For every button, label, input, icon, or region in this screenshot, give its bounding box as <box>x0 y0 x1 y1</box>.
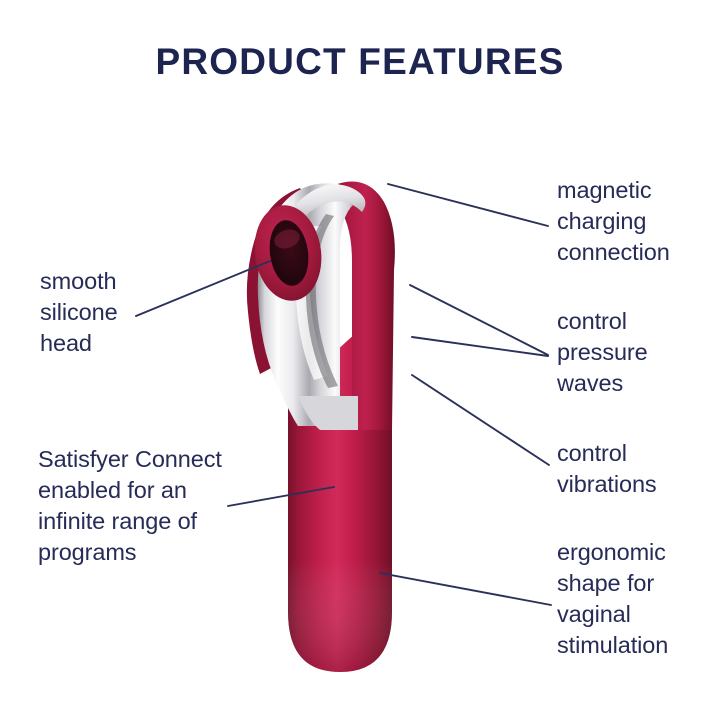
leader-line-smooth-silicone <box>136 261 270 316</box>
leader-line-magnetic-charging <box>388 184 548 226</box>
product-features-infographic: PRODUCT FEATURES <box>0 0 720 720</box>
leader-line-satisfyer-connect <box>228 487 334 506</box>
leader-line-control-vibrations <box>412 375 549 465</box>
leader-line-ergonomic-shape <box>380 573 551 605</box>
leader-line-control-pressure-upper <box>410 285 548 355</box>
leader-line-control-pressure-lower <box>412 337 548 356</box>
leader-lines <box>0 0 720 720</box>
